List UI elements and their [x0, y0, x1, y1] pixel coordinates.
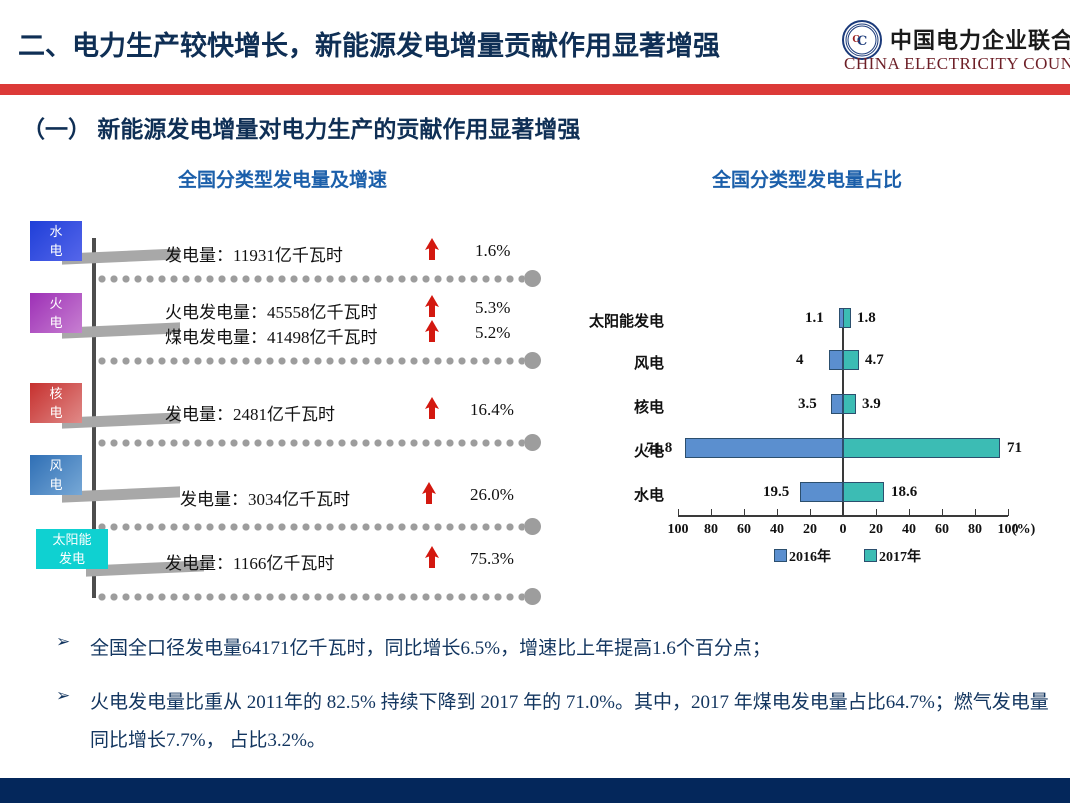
bar-2016 [829, 350, 843, 370]
x-tick-label: 40 [892, 522, 926, 538]
x-tick-label: 20 [793, 522, 827, 538]
category-badge-hydro: 水电 [30, 221, 82, 261]
logo-chinese-name: 中国电力企业联合会 [890, 23, 1070, 55]
x-tick-label: 100 [661, 522, 695, 538]
section-subtitle: （一） 新能源发电增量对电力生产的贡献作用显著增强 [22, 110, 580, 144]
legend-swatch-2017 [864, 549, 877, 562]
bar-2017 [843, 482, 884, 502]
row-growth-pct: 26.0% [470, 485, 514, 505]
right-chart-title: 全国分类型发电量占比 [712, 165, 902, 192]
value-2017: 4.7 [865, 352, 884, 369]
organization-logo: C C 中国电力企业联合会 CHINA ELECTRICITY COUNCIL [842, 18, 1068, 76]
page-title: 二、电力生产较快增长，新能源发电增量贡献作用显著增强 [18, 24, 720, 63]
summary-bullets: ➢ 全国全口径发电量64171亿千瓦时，同比增长6.5%，增速比上年提高1.6个… [56, 630, 1056, 776]
row-growth-pct: 16.4% [470, 400, 514, 420]
x-tick-label: 0 [826, 522, 860, 538]
up-arrow-icon [421, 482, 437, 504]
row-metric-text: 火电发电量：45558亿千瓦时 [165, 298, 378, 323]
timeline-row: 太阳能发电 发电量：1166亿千瓦时 75.3% [0, 527, 560, 599]
value-2017: 1.8 [857, 310, 876, 327]
x-tick-label: 80 [694, 522, 728, 538]
category-badge-thermal: 火电 [30, 293, 82, 333]
bar-2017 [843, 308, 851, 328]
legend-label-2017: 2017年 [879, 550, 921, 565]
bullet-text: 全国全口径发电量64171亿千瓦时，同比增长6.5%，增速比上年提高1.6个百分… [90, 630, 1056, 668]
bar-2016 [800, 482, 843, 502]
timeline-row: 火电 火电发电量：45558亿千瓦时 5.3% 煤电发电量：41498亿千瓦时 … [0, 285, 560, 377]
value-2016: 19.5 [763, 484, 789, 501]
value-2016: 71.8 [646, 440, 672, 457]
row-growth-pct: 1.6% [475, 241, 510, 261]
bar-2017 [843, 438, 1000, 458]
bullet-item: ➢ 火电发电量比重从 2011年的 82.5% 持续下降到 2017 年的 71… [56, 684, 1056, 760]
up-arrow-icon [424, 295, 440, 317]
category-label: 风电 [560, 352, 664, 373]
bullet-item: ➢ 全国全口径发电量64171亿千瓦时，同比增长6.5%，增速比上年提高1.6个… [56, 630, 1056, 668]
header-red-divider [0, 84, 1070, 95]
row-metric-text: 发电量：1166亿千瓦时 [165, 549, 334, 574]
up-arrow-icon [424, 397, 440, 419]
timeline-row: 水电 发电量：11931亿千瓦时 1.6% [0, 213, 560, 285]
bullet-marker-icon: ➢ [56, 686, 70, 706]
bullet-text: 火电发电量比重从 2011年的 82.5% 持续下降到 2017 年的 71.0… [90, 684, 1056, 760]
x-tick-label: 60 [727, 522, 761, 538]
timeline-row: 核电 发电量：2481亿千瓦时 16.4% [0, 377, 560, 449]
value-2016: 4 [796, 352, 804, 369]
bar-2016 [831, 394, 843, 414]
up-arrow-icon [424, 546, 440, 568]
legend-swatch-2016 [774, 549, 787, 562]
category-label: 水电 [560, 484, 664, 505]
category-badge-solar: 太阳能发电 [36, 529, 108, 569]
x-tick-label: 60 [925, 522, 959, 538]
svg-text:C: C [852, 35, 859, 45]
category-badge-wind: 风电 [30, 455, 82, 495]
x-tick-label: 80 [958, 522, 992, 538]
row-metric-text: 发电量：11931亿千瓦时 [165, 241, 343, 266]
bar-2017 [843, 350, 859, 370]
footer-bar [0, 778, 1070, 803]
row-growth-pct: 5.3% [475, 298, 510, 318]
value-2017: 3.9 [862, 396, 881, 413]
row-growth-pct: 5.2% [475, 323, 510, 343]
up-arrow-icon [424, 238, 440, 260]
generation-timeline: 水电 发电量：11931亿千瓦时 1.6% 火电 火电发电量：45558亿千瓦时… [0, 205, 560, 605]
value-2017: 18.6 [891, 484, 917, 501]
x-tick-label: 20 [859, 522, 893, 538]
category-label: 太阳能发电 [560, 310, 664, 331]
bar-2016 [685, 438, 843, 458]
bar-2017 [843, 394, 856, 414]
left-chart-title: 全国分类型发电量及增速 [178, 165, 387, 192]
chart-legend: 2016年 2017年 [774, 546, 921, 566]
x-tick-label: 40 [760, 522, 794, 538]
row-metric-text: 发电量：2481亿千瓦时 [165, 400, 335, 425]
row-metric-text: 煤电发电量：41498亿千瓦时 [165, 323, 378, 348]
page-header: 二、电力生产较快增长，新能源发电增量贡献作用显著增强 C C 中国电力企业联合会… [0, 0, 1070, 80]
up-arrow-icon [424, 320, 440, 342]
x-axis-unit-label: (%) [1012, 522, 1035, 538]
category-label: 核电 [560, 396, 664, 417]
category-badge-nuclear: 核电 [30, 383, 82, 423]
timeline-row: 风电 发电量：3034亿千瓦时 26.0% [0, 449, 560, 521]
bullet-marker-icon: ➢ [56, 632, 70, 652]
logo-english-name: CHINA ELECTRICITY COUNCIL [844, 54, 1070, 74]
value-2016: 3.5 [798, 396, 817, 413]
value-2016: 1.1 [805, 310, 824, 327]
legend-label-2016: 2016年 [789, 550, 831, 565]
value-2017: 71 [1007, 440, 1022, 457]
row-metric-text: 发电量：3034亿千瓦时 [180, 485, 350, 510]
share-tornado-chart: 太阳能发电 1.1 1.8 风电 4 4.7 核电 3.5 3.9 火电 71.… [560, 290, 1060, 580]
row-growth-pct: 75.3% [470, 549, 514, 569]
